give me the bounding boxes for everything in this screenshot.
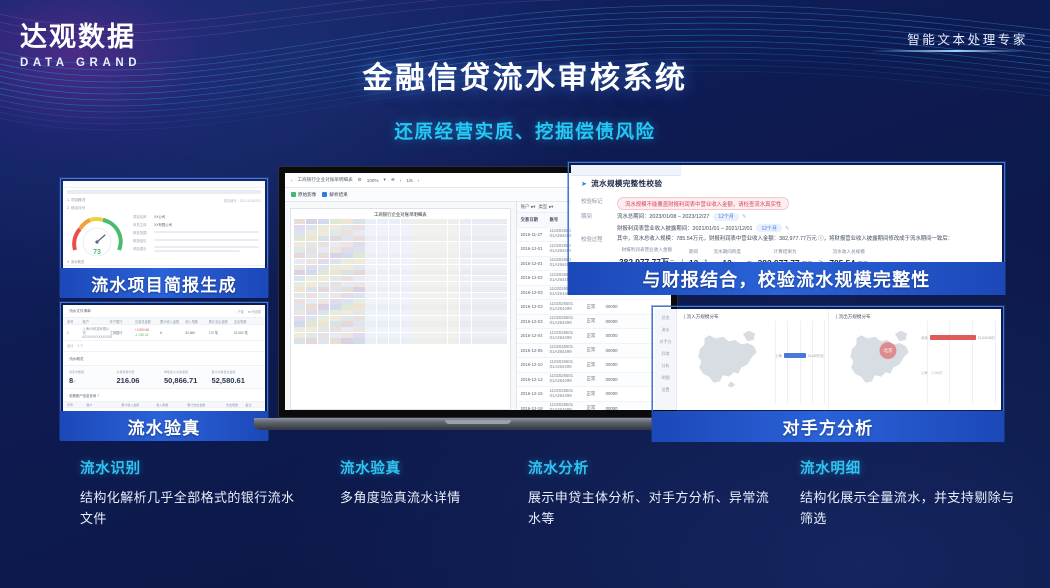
table-row[interactable]: 2016-12-15110202650101A264499正常00000 — [517, 387, 671, 402]
document-cell — [389, 259, 400, 264]
document-cell — [448, 259, 459, 264]
document-cell — [401, 299, 412, 304]
document-cell — [495, 259, 506, 264]
feature-description: 结构化展示全量流水，并支持剔除与筛选 — [800, 487, 1025, 529]
document-cell — [377, 247, 388, 252]
document-cell — [472, 253, 483, 258]
bar-inflow — [784, 353, 806, 358]
document-cell — [448, 282, 459, 287]
map-panel-inflow: | 流入方规模分布 上海 16,489万元 — [677, 309, 829, 410]
cell-status: 正常 — [587, 318, 603, 324]
document-cell — [330, 327, 341, 332]
document-cell — [318, 253, 329, 258]
document-cell — [353, 219, 364, 224]
screenshot-maps: 总览流水对手方异常分析明细设置 | 流入方规模分布 上海 16,489万元 | — [655, 309, 1001, 410]
document-cell — [353, 310, 364, 315]
document-cell — [353, 282, 364, 287]
document-cell — [353, 265, 364, 270]
document-cell — [341, 259, 352, 264]
document-cell — [472, 304, 483, 309]
document-cell — [318, 304, 329, 309]
document-cell — [401, 282, 412, 287]
document-cell — [436, 236, 447, 241]
document-cell — [483, 310, 494, 315]
document-cell — [424, 270, 435, 275]
document-cell — [365, 247, 376, 252]
map-panel-outflow: | 流出方规模分布 北京 北京 23,845.88万 上海 1,246万 — [829, 309, 1001, 410]
document-cell — [294, 265, 305, 270]
document-cell — [306, 333, 317, 338]
document-cell — [483, 242, 494, 247]
document-cell — [424, 299, 435, 304]
document-cell — [294, 276, 305, 281]
document-cell — [412, 276, 423, 281]
score-gauge: 73 — [69, 212, 125, 256]
document-cell — [306, 327, 317, 332]
document-cell — [294, 304, 305, 309]
document-cell — [436, 321, 447, 326]
document-cell — [436, 242, 447, 247]
document-cell — [412, 219, 423, 224]
duration-chip[interactable]: 12个月 — [756, 224, 782, 232]
document-cell — [401, 321, 412, 326]
document-cell — [341, 327, 352, 332]
document-cell — [330, 299, 341, 304]
document-cell — [401, 247, 412, 252]
document-cell — [412, 282, 423, 287]
validation-mark-row: 校验标记 流水规模不能覆盖财报利润表中营业收入金额，请检查流水真实性 — [581, 197, 1001, 210]
document-cell — [436, 333, 447, 338]
document-cell — [412, 247, 423, 252]
document-cell — [424, 310, 435, 315]
document-cell — [495, 327, 506, 332]
document-cell — [318, 230, 329, 235]
document-cell — [401, 265, 412, 270]
document-cell — [341, 230, 352, 235]
document-cell — [412, 321, 423, 326]
chart-gridlines — [775, 321, 824, 404]
document-cell — [330, 304, 341, 309]
document-cell — [448, 276, 459, 281]
document-cell — [341, 338, 352, 343]
document-cell — [472, 293, 483, 298]
document-cell — [341, 310, 352, 315]
document-cell — [365, 276, 376, 281]
document-cell — [353, 299, 364, 304]
document-cell — [365, 287, 376, 292]
document-cell — [365, 282, 376, 287]
document-cell — [436, 225, 447, 230]
document-cell — [460, 333, 471, 338]
document-cell — [412, 242, 423, 247]
document-cell — [306, 287, 317, 292]
table-row[interactable]: 2016-12-04110202650101A264499正常00000 — [517, 329, 671, 344]
document-cell — [318, 310, 329, 315]
document-cell — [306, 321, 317, 326]
document-cell — [377, 299, 388, 304]
bar-outflow — [930, 335, 976, 340]
document-cell — [401, 242, 412, 247]
map-hotspot-label: 北京 — [883, 347, 893, 354]
document-cell — [341, 321, 352, 326]
formula-term: 财报利润表营业收入金额 382,977.77万元 — [619, 247, 675, 262]
table-row[interactable]: 2016-12-03110202650101A264499正常00000 — [517, 300, 671, 315]
cell-date: 2016-12-01 — [521, 246, 547, 251]
document-cell — [318, 219, 329, 224]
document-cell — [495, 299, 506, 304]
document-cell — [318, 333, 329, 338]
document-cell — [330, 230, 341, 235]
document-cell — [448, 270, 459, 275]
document-cell — [341, 287, 352, 292]
document-cell — [330, 270, 341, 275]
card-validation[interactable]: ➤流水规模完整性校验 校验标记 流水规模不能覆盖财报利润表中营业收入金额，请检查… — [568, 162, 1005, 294]
document-cell — [389, 219, 400, 224]
edit-pencil-icon[interactable]: ✎ — [785, 226, 790, 232]
document-cell — [294, 230, 305, 235]
feature-title: 流水分析 — [528, 457, 773, 478]
document-cell — [330, 287, 341, 292]
laptop-base — [254, 418, 702, 430]
document-cell — [412, 327, 423, 332]
document-cell — [483, 253, 494, 258]
document-cell — [294, 225, 305, 230]
document-cell — [341, 242, 352, 247]
document-cell — [412, 316, 423, 321]
document-cell — [306, 310, 317, 315]
document-cell — [483, 338, 494, 343]
document-cell — [389, 293, 400, 298]
document-cell — [412, 293, 423, 298]
document-cell — [436, 310, 447, 315]
document-cell — [448, 304, 459, 309]
document-cell — [401, 333, 412, 338]
filter-type[interactable]: 类型 ●▾ — [538, 204, 553, 210]
document-cell — [341, 299, 352, 304]
document-cell — [472, 327, 483, 332]
document-cell — [330, 225, 341, 230]
china-map-outflow: 北京 — [839, 323, 917, 389]
document-cell — [401, 276, 412, 281]
laptop-trackpad-notch — [445, 420, 511, 424]
cell-status: 正常 — [587, 362, 603, 368]
cell-date: 2016-12-04 — [521, 333, 547, 338]
document-cell — [389, 282, 400, 287]
table-row[interactable]: 2016-12-18110202650101A264499正常00000 — [517, 402, 671, 411]
kpi-item: 单笔最大交易金额 50,866.71 — [164, 370, 212, 385]
tab-parsed-result[interactable]: 解析结果 — [322, 192, 347, 198]
document-cell — [436, 265, 447, 270]
document-cell — [389, 316, 400, 321]
document-cell — [495, 230, 506, 235]
document-cell — [412, 338, 423, 343]
document-cell — [436, 338, 447, 343]
document-cell — [306, 316, 317, 321]
document-cell — [472, 219, 483, 224]
document-cell — [365, 293, 376, 298]
document-cell — [412, 253, 423, 258]
document-cell — [318, 265, 329, 270]
document-cell — [495, 242, 506, 247]
document-cell — [318, 282, 329, 287]
cell-status: 正常 — [587, 304, 603, 310]
document-cell — [318, 242, 329, 247]
document-cell — [460, 230, 471, 235]
document-cell — [365, 219, 376, 224]
formula-term: 流水期间跨度 12 — [713, 249, 741, 262]
document-heading: 工商银行企业对账单明细表 — [291, 209, 510, 219]
document-cell — [448, 310, 459, 315]
document-cell — [401, 259, 412, 264]
chevron-down-icon[interactable]: ▾ — [384, 177, 386, 183]
document-cell — [460, 282, 471, 287]
document-cell — [377, 333, 388, 338]
zoom-level[interactable]: 100% — [367, 178, 379, 183]
document-cell — [365, 299, 376, 304]
kpi-item: 对手方数量 8个 — [69, 370, 117, 385]
document-cell — [483, 247, 494, 252]
document-cell — [377, 219, 388, 224]
document-cell — [330, 219, 341, 224]
filter-account[interactable]: 账户 ●▾ — [521, 204, 536, 210]
duration-chip[interactable]: 12个月 — [713, 213, 739, 221]
document-cell — [365, 259, 376, 264]
document-cell — [424, 333, 435, 338]
expand-arrow-icon[interactable]: ➤ — [581, 181, 587, 188]
document-cell — [495, 247, 506, 252]
document-cell — [365, 316, 376, 321]
app-sidebar[interactable]: 总览流水对手方异常分析明细设置 — [655, 309, 677, 410]
document-cell — [401, 310, 412, 315]
document-cell — [353, 304, 364, 309]
green-square-icon — [291, 192, 296, 197]
document-cell — [389, 299, 400, 304]
document-cell — [330, 247, 341, 252]
document-cell — [460, 253, 471, 258]
document-cell — [306, 293, 317, 298]
document-cell — [389, 225, 400, 230]
tagline-underline — [870, 50, 1026, 52]
table-row[interactable]: 2016-12-03110202650101A264499正常00000 — [517, 315, 671, 330]
china-map-inflow — [687, 323, 765, 389]
document-cell — [341, 304, 352, 309]
document-cell — [495, 225, 506, 230]
document-cell — [330, 310, 341, 315]
document-cell — [353, 276, 364, 281]
document-cell — [306, 236, 317, 241]
back-icon[interactable]: ‹ — [291, 178, 293, 183]
document-cell — [306, 225, 317, 230]
document-cell — [330, 236, 341, 241]
document-cell — [330, 242, 341, 247]
document-cell — [294, 282, 305, 287]
formula-term: 期间 12 — [689, 249, 698, 262]
document-cell — [377, 338, 388, 343]
document-cell — [412, 270, 423, 275]
document-cell — [365, 230, 376, 235]
document-cell — [306, 242, 317, 247]
document-cell — [424, 287, 435, 292]
document-cell — [377, 287, 388, 292]
sidebar-item[interactable]: 流水 — [655, 321, 676, 333]
document-cell — [377, 253, 388, 258]
document-cell — [448, 287, 459, 292]
document-cell — [483, 276, 494, 281]
document-cell — [353, 327, 364, 332]
next-page-icon[interactable]: › — [418, 178, 420, 183]
document-cell — [472, 310, 483, 315]
document-cell — [460, 247, 471, 252]
document-cell — [294, 310, 305, 315]
document-cell — [424, 338, 435, 343]
feature-title: 流水识别 — [80, 457, 295, 478]
document-cell — [389, 242, 400, 247]
document-cell — [495, 282, 506, 287]
document-cell — [318, 270, 329, 275]
document-cell — [353, 333, 364, 338]
card-report-generation[interactable]: 1. 项目概况 报告编号：2023-1108-001 2. 综合评分 73 项目… — [60, 178, 268, 296]
document-cell — [448, 265, 459, 270]
document-cell — [306, 230, 317, 235]
document-cell — [448, 247, 459, 252]
document-cell — [306, 259, 317, 264]
document-cell — [389, 253, 400, 258]
edit-pencil-icon[interactable]: ✎ — [742, 214, 747, 220]
document-cell — [412, 265, 423, 270]
document-cell — [353, 247, 364, 252]
document-cell — [436, 230, 447, 235]
card-counterparty-analysis[interactable]: 总览流水对手方异常分析明细设置 | 流入方规模分布 上海 16,489万元 | — [652, 306, 1004, 440]
panel-title: | 流出方规模分布 — [829, 309, 1001, 320]
document-cell — [377, 327, 388, 332]
brand-logo-cn: 达观数据 — [20, 24, 141, 52]
document-cell — [436, 327, 447, 332]
document-cell — [353, 338, 364, 343]
document-cell — [401, 270, 412, 275]
document-cell — [365, 236, 376, 241]
cell-account: 110202650101A264499 — [550, 403, 584, 410]
document-cell — [377, 265, 388, 270]
sidebar-item[interactable]: 分析 — [655, 357, 676, 369]
card-verification[interactable]: · 流水文件清单 ↓ 下载 ⊞ 列设置 序号账户开户银行交易总金额累计收入金额收… — [60, 302, 268, 439]
validation-formula: 财报利润表营业收入金额 382,977.77万元 / 期间 12 * 流水期间跨… — [619, 247, 868, 262]
document-cell — [495, 253, 506, 258]
document-cell — [412, 230, 423, 235]
document-cell — [436, 253, 447, 258]
panel-tab-strip — [571, 165, 681, 176]
document-cell — [472, 287, 483, 292]
document-cell — [472, 230, 483, 235]
document-cell — [294, 242, 305, 247]
document-cell — [412, 259, 423, 264]
sidebar-item[interactable]: 明细 — [655, 369, 676, 381]
document-cell — [472, 259, 483, 264]
table-row[interactable]: 2016-12-05110202650101A264499正常00000 — [517, 344, 671, 359]
table-row[interactable]: 2016-12-10110202650101A264499正常00000 — [517, 358, 671, 373]
document-cell — [483, 299, 494, 304]
cell-status: 正常 — [587, 391, 603, 397]
document-cell — [318, 287, 329, 292]
document-cell — [472, 333, 483, 338]
document-cell — [460, 304, 471, 309]
validation-period-row: 期间 流水总期间：2023/01/08 – 2023/12/2712个月✎ 财报… — [581, 212, 1001, 232]
document-cell — [412, 304, 423, 309]
document-cell — [318, 276, 329, 281]
document-cell — [483, 270, 494, 275]
document-cell — [294, 299, 305, 304]
document-cell — [294, 316, 305, 321]
document-cell — [341, 265, 352, 270]
document-cell — [472, 338, 483, 343]
cell-status: 正常 — [587, 333, 603, 339]
document-cell — [436, 270, 447, 275]
validation-heading: ➤流水规模完整性校验 — [581, 178, 662, 189]
document-cell — [318, 299, 329, 304]
document-cell — [353, 287, 364, 292]
document-cell — [460, 276, 471, 281]
document-cell — [436, 276, 447, 281]
document-cell — [472, 299, 483, 304]
cell-account: 110202650101A264499 — [550, 389, 584, 399]
document-cell — [330, 253, 341, 258]
document-cell — [483, 287, 494, 292]
document-cell — [389, 247, 400, 252]
sidebar-item[interactable]: 异常 — [655, 345, 676, 357]
document-cell — [401, 236, 412, 241]
document-cell — [483, 282, 494, 287]
document-cell — [341, 276, 352, 281]
tab-original-image[interactable]: 原始影像 — [291, 192, 316, 198]
validation-process-row: 校验过程 其中，流水总收入规模：785.54万元，财报利润表中营业收入金额：38… — [581, 235, 1002, 243]
feature-block-2: 流水验真 多角度验真流水详情 — [340, 457, 535, 508]
feature-title: 流水明细 — [800, 457, 1025, 478]
cell-date: 2016-12-10 — [521, 362, 547, 367]
sidebar-item[interactable]: 设置 — [655, 381, 676, 393]
settings-icon[interactable]: ⚙ — [358, 177, 362, 183]
document-cell — [483, 327, 494, 332]
document-cell — [353, 259, 364, 264]
document-cell — [377, 270, 388, 275]
document-cell — [460, 225, 471, 230]
sidebar-item[interactable]: 总览 — [655, 309, 676, 321]
document-cell — [460, 338, 471, 343]
document-cell — [341, 282, 352, 287]
document-cell — [353, 225, 364, 230]
screenshot-validation: ➤流水规模完整性校验 校验标记 流水规模不能覆盖财报利润表中营业收入金额，请检查… — [571, 165, 1002, 262]
document-cell — [353, 242, 364, 247]
document-cell — [341, 247, 352, 252]
document-cell — [460, 287, 471, 292]
sidebar-item[interactable]: 对手方 — [655, 333, 676, 345]
document-cell — [353, 230, 364, 235]
zoom-reset-icon[interactable]: ⊕ — [391, 177, 395, 183]
feature-description: 多角度验真流水详情 — [340, 487, 535, 508]
document-cell — [495, 219, 506, 224]
prev-page-icon[interactable]: ‹ — [400, 178, 402, 183]
document-cell — [424, 265, 435, 270]
pane-original-document[interactable]: 工商银行企业对账单明细表 — [285, 202, 517, 410]
document-cell — [341, 225, 352, 230]
document-cell — [330, 293, 341, 298]
table-row[interactable]: 2016-12-12110202650101A264499正常00000 — [517, 373, 671, 388]
document-cell — [365, 270, 376, 275]
document-cell — [377, 321, 388, 326]
document-cell — [341, 270, 352, 275]
document-cell — [377, 310, 388, 315]
document-cell — [424, 282, 435, 287]
document-cell — [401, 225, 412, 230]
formula-term: 流水收入总规模 785.54 万元 — [829, 249, 868, 262]
